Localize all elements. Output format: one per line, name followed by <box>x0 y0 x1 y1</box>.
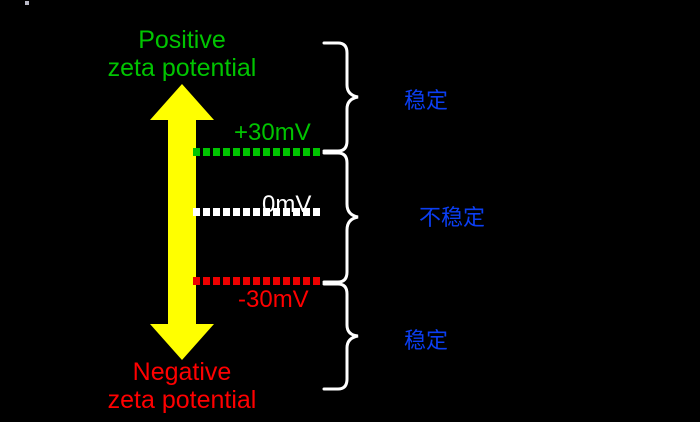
negative-zeta-label-line2: zeta potential <box>0 386 364 414</box>
threshold-line-minus30 <box>193 277 323 285</box>
threshold-label-minus30: -30mV <box>238 287 309 314</box>
double-headed-arrow-icon <box>146 82 218 362</box>
threshold-line-plus30 <box>193 148 323 156</box>
region-annotation-stable-top: 稳定 <box>404 83 448 115</box>
region-annotation-unstable: 不稳定 <box>419 200 485 232</box>
positive-zeta-label-line2: zeta potential <box>0 54 364 82</box>
positive-zeta-label: Positive zeta potential <box>0 26 364 82</box>
region-annotation-stable-bottom: 稳定 <box>404 323 448 355</box>
zeta-potential-diagram: Positive zeta potential Negative zeta po… <box>0 0 700 422</box>
brace-unstable-middle-icon <box>320 150 360 285</box>
brace-stable-top-icon <box>320 40 360 154</box>
threshold-label-plus30: +30mV <box>234 120 311 147</box>
negative-zeta-label-line1: Negative <box>0 358 364 386</box>
stray-pixel-artifact <box>25 1 29 5</box>
brace-stable-bottom-icon <box>320 281 360 392</box>
negative-zeta-label: Negative zeta potential <box>0 358 364 414</box>
threshold-label-zero: 0mV <box>262 192 311 219</box>
positive-zeta-label-line1: Positive <box>0 26 364 54</box>
